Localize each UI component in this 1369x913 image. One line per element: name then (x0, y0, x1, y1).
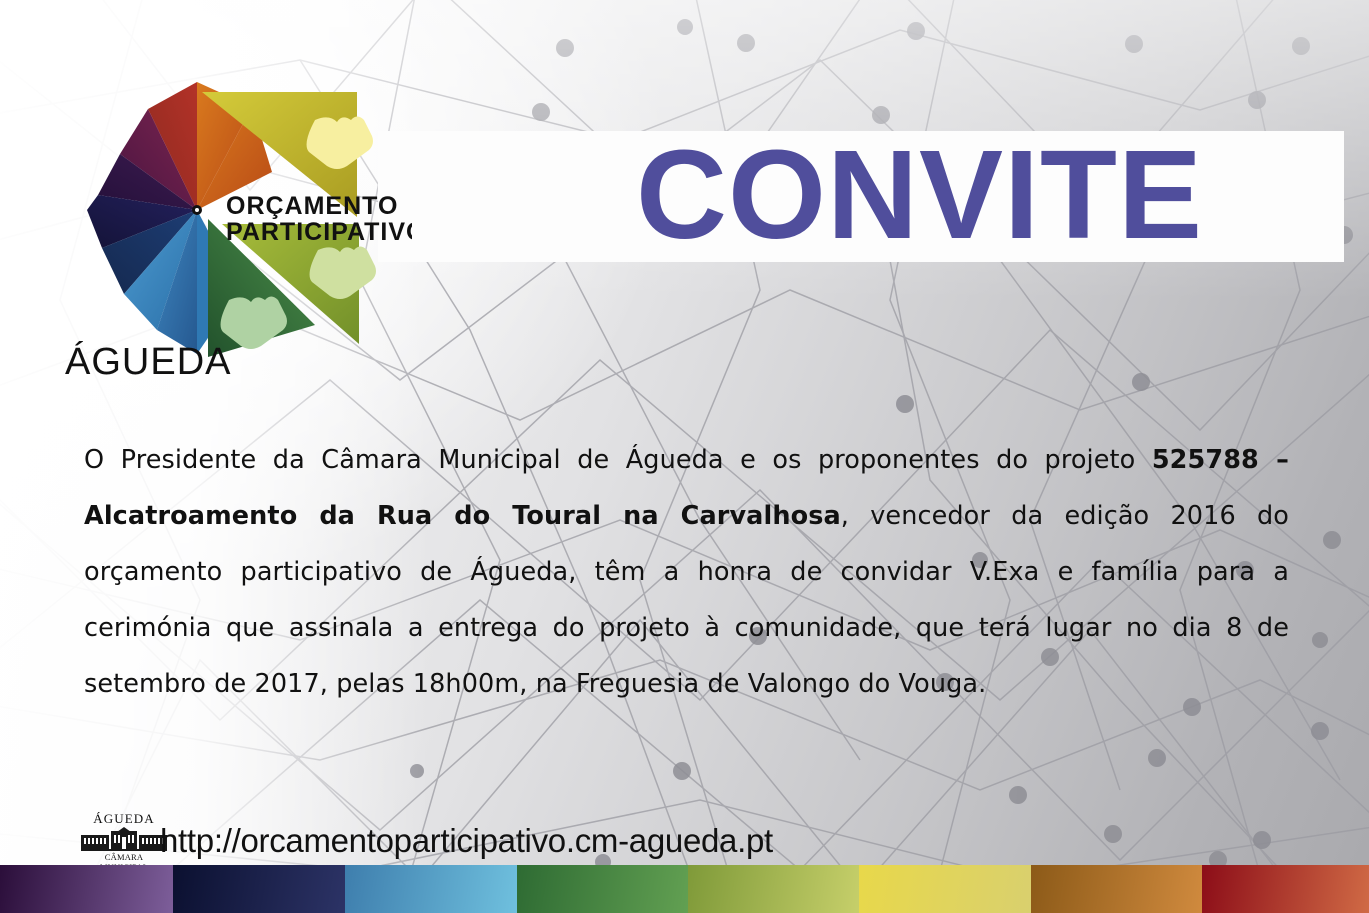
body-segment-1: O Presidente da Câmara Municipal de Águe… (84, 445, 1152, 475)
color-swatch-yellow (859, 865, 1031, 913)
orcamento-participativo-logo: ORÇAMENTO PARTICIPATIVO ÁGUEDA (62, 62, 412, 392)
invitation-body-text: O Presidente da Câmara Municipal de Águe… (84, 432, 1289, 712)
camara-logo-title: ÁGUEDA (80, 812, 168, 826)
logo-city-agueda: ÁGUEDA (65, 340, 231, 383)
logo-line1-orcamento: ORÇAMENTO (226, 192, 398, 220)
building-icon (81, 827, 167, 851)
color-swatch-red (1202, 865, 1369, 913)
color-swatch-dark-green (517, 865, 688, 913)
bottom-color-bar (0, 865, 1369, 913)
website-url[interactable]: http://orcamentoparticipativo.cm-agueda.… (160, 822, 773, 860)
page-title: CONVITE (636, 128, 1296, 262)
color-swatch-navy (173, 865, 345, 913)
invitation-poster: ORÇAMENTO PARTICIPATIVO ÁGUEDA CONVITE O… (0, 0, 1369, 913)
logo-line2-participativo: PARTICIPATIVO (226, 218, 412, 246)
camara-municipal-logo: ÁGUEDA CÂMARA MUNICIPAL (80, 812, 168, 866)
color-swatch-blue (345, 865, 517, 913)
color-swatch-olive (688, 865, 859, 913)
color-swatch-purple (0, 865, 173, 913)
color-swatch-orange (1031, 865, 1202, 913)
